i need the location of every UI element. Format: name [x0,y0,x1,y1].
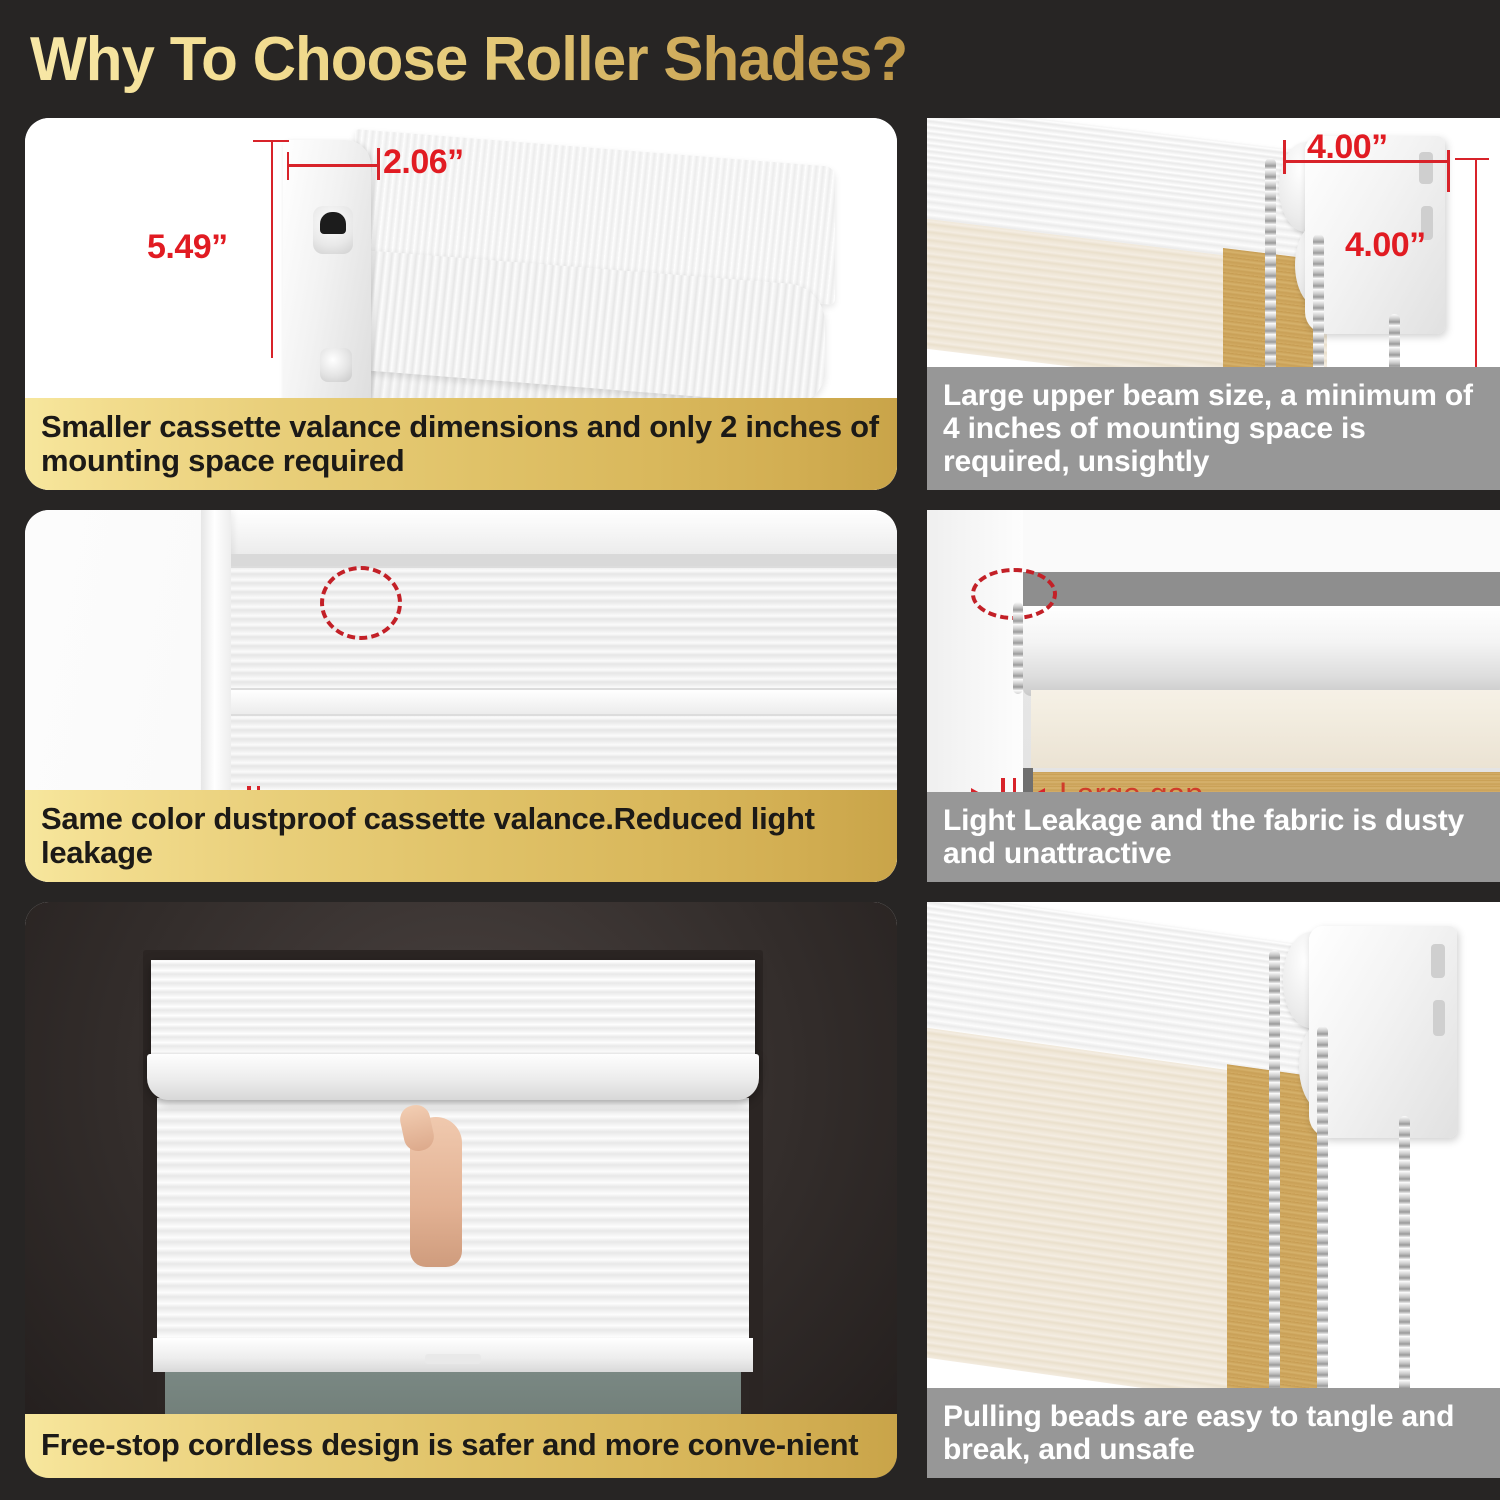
panel-light-leakage: Large gap Light Leakage and the fabric i… [927,510,1500,882]
page-title: Why To Choose Roller Shades? [30,20,907,100]
panel-pulling-beads: Pulling beads are easy to tangle and bre… [927,902,1500,1478]
cordless-window-photo [25,902,897,1478]
highlight-circle [320,566,402,640]
beam-height-label: 4.00” [1345,226,1426,265]
pull-tab [425,1354,481,1364]
panel-caption: Light Leakage and the fabric is dusty an… [927,792,1500,882]
panel-cassette-dimensions: 2.06” 5.49” Smaller cassette valance dim… [25,118,897,490]
panel-dustproof-cassette: smaller gap Same color dustproof cassett… [25,510,897,882]
width-dimension-label: 2.06” [383,143,464,182]
panel-caption: Same color dustproof cassette valance.Re… [25,790,897,882]
panel-cordless-design: Free-stop cordless design is safer and m… [25,902,897,1478]
panel-caption: Free-stop cordless design is safer and m… [25,1414,897,1478]
panel-caption: Smaller cassette valance dimensions and … [25,398,897,490]
panel-caption: Large upper beam size, a minimum of 4 in… [927,367,1500,490]
height-dimension-label: 5.49” [147,228,228,267]
hand [410,1117,462,1267]
panel-caption: Pulling beads are easy to tangle and bre… [927,1388,1500,1478]
panel-large-upper-beam: 4.00” 4.00” Large upper beam size, a min… [927,118,1500,490]
beam-width-label: 4.00” [1307,128,1388,167]
comparison-grid: 2.06” 5.49” Smaller cassette valance dim… [25,118,1475,1478]
